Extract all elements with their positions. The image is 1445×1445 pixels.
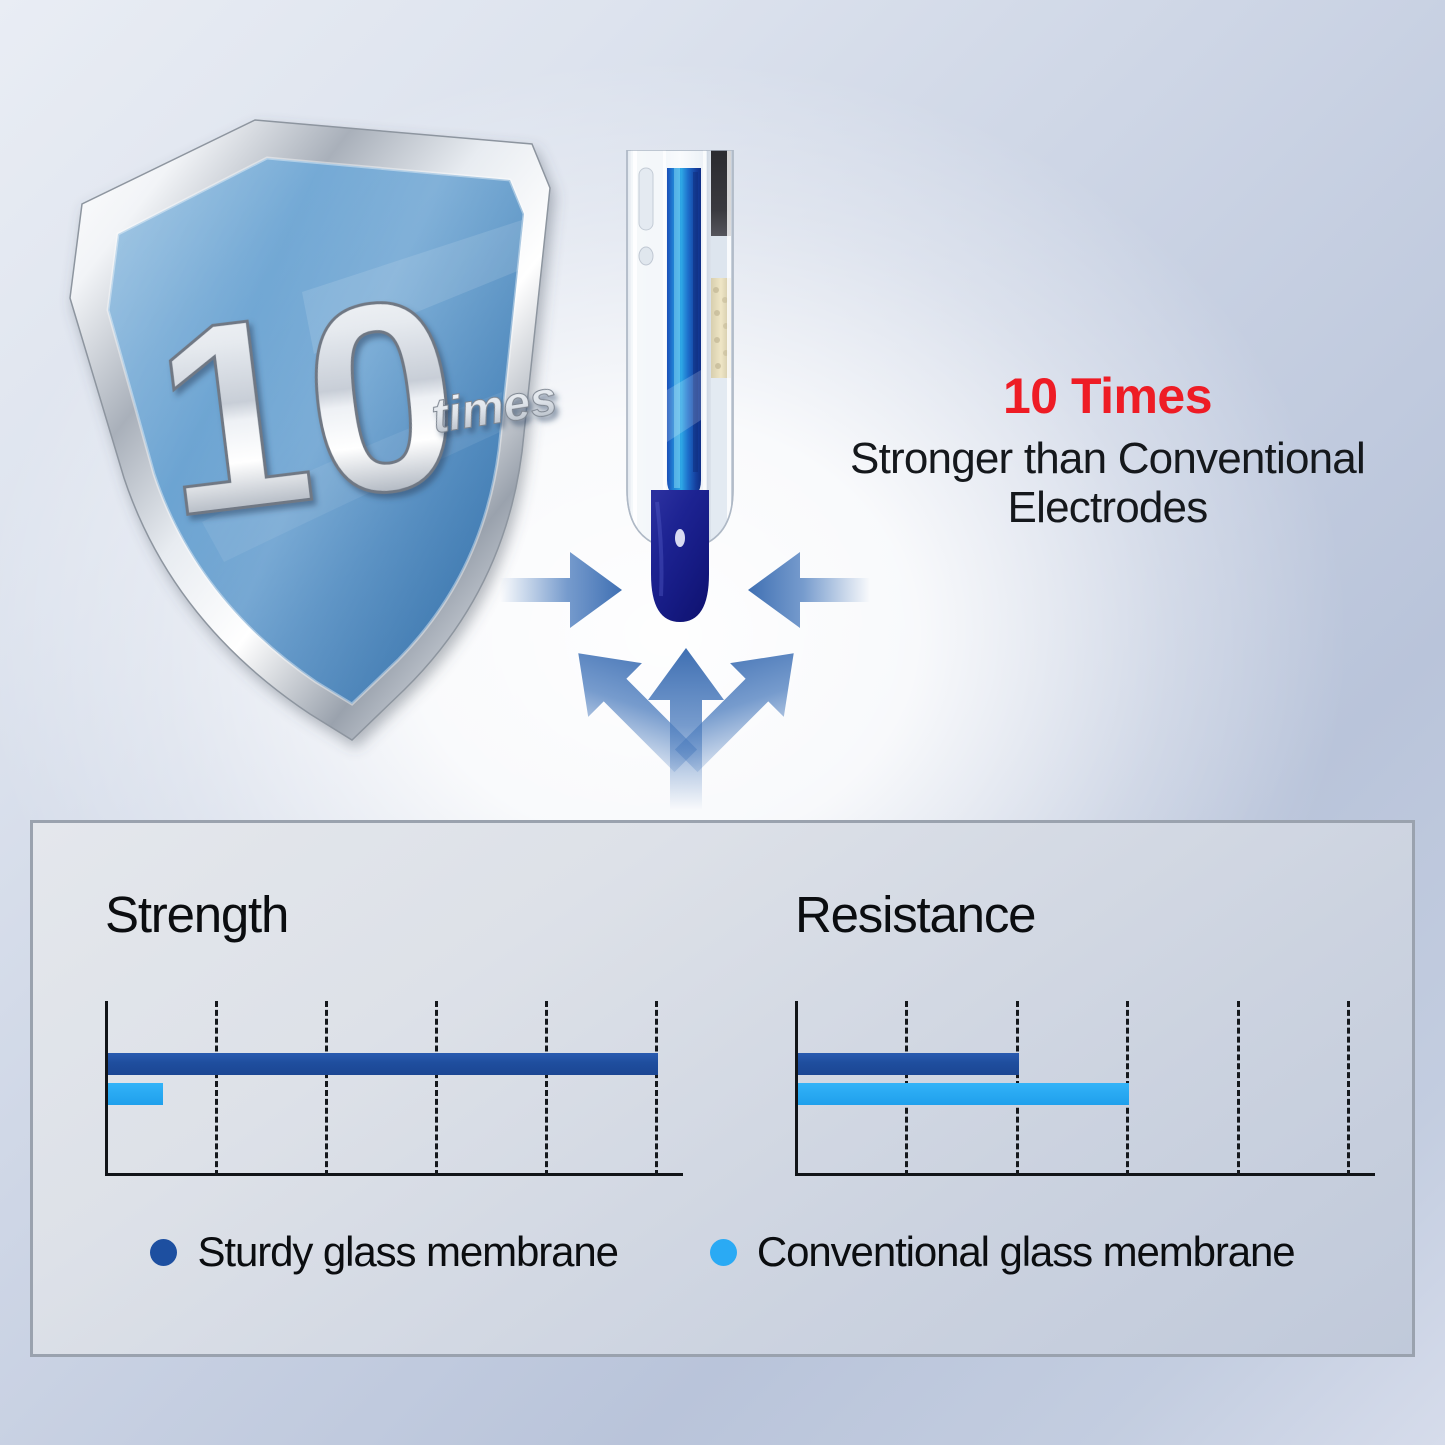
- legend-label-sturdy: Sturdy glass membrane: [197, 1228, 617, 1276]
- gridline: [215, 1001, 218, 1176]
- chart-strength-plot: [105, 1001, 655, 1176]
- bar-conventional: [798, 1083, 1129, 1105]
- headline-line-1: Stronger than Conventional: [795, 434, 1420, 483]
- gridline: [545, 1001, 548, 1176]
- gridline: [435, 1001, 438, 1176]
- chart-legend: Sturdy glass membrane Conventional glass…: [33, 1228, 1412, 1276]
- legend-dot-icon: [710, 1239, 737, 1266]
- badge-number-text: 10: [141, 239, 473, 573]
- chart-resistance-plot: [795, 1001, 1347, 1176]
- headline-highlight: 10 Times: [795, 368, 1420, 424]
- bar-conventional: [108, 1083, 163, 1105]
- gridline: [325, 1001, 328, 1176]
- legend-label-conventional: Conventional glass membrane: [757, 1228, 1295, 1276]
- headline-block: 10 Times Stronger than Conventional Elec…: [795, 368, 1420, 533]
- x-axis-line: [795, 1173, 1375, 1176]
- gridline: [1237, 1001, 1240, 1176]
- bar-sturdy: [798, 1053, 1019, 1075]
- chart-resistance-title: Resistance: [795, 885, 1035, 944]
- x-axis-line: [105, 1173, 683, 1176]
- gridline: [655, 1001, 658, 1176]
- legend-item-conventional: Conventional glass membrane: [710, 1228, 1295, 1276]
- legend-item-sturdy: Sturdy glass membrane: [150, 1228, 617, 1276]
- bar-sturdy: [108, 1053, 658, 1075]
- arrow-right: [748, 552, 870, 628]
- comparison-panel: Strength Resistance: [30, 820, 1415, 1357]
- headline-line-2: Electrodes: [795, 483, 1420, 532]
- chart-strength-title: Strength: [105, 885, 288, 944]
- converging-arrows-icon: [500, 520, 870, 810]
- legend-dot-icon: [150, 1239, 177, 1266]
- gridline: [1347, 1001, 1350, 1176]
- arrow-left: [500, 552, 622, 628]
- infographic-canvas: 10 times: [0, 0, 1445, 1445]
